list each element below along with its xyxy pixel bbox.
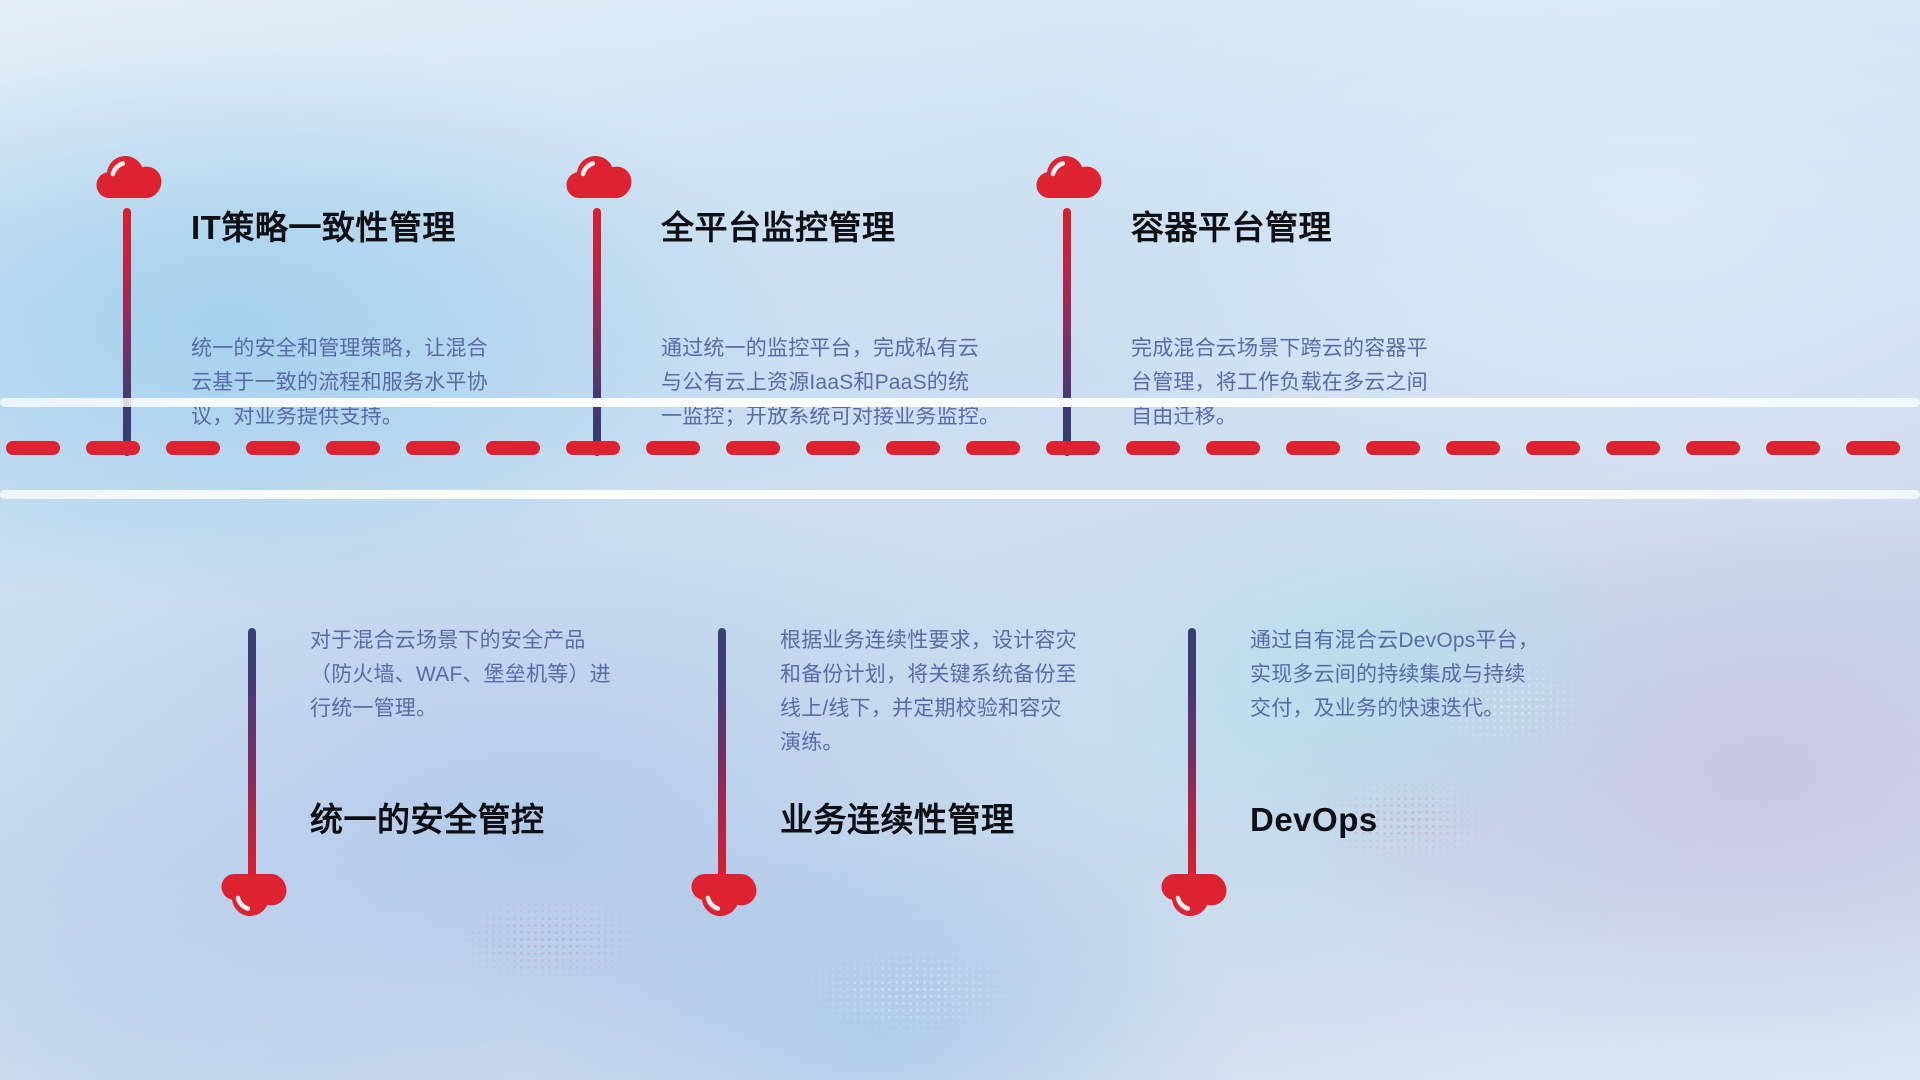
top-column-1-title: IT策略一致性管理 bbox=[191, 208, 456, 248]
divider-dash bbox=[1206, 441, 1260, 455]
bottom-column-3-title: DevOps bbox=[1250, 800, 1378, 840]
speckle-texture bbox=[420, 880, 680, 1000]
divider-dash bbox=[1446, 441, 1500, 455]
divider-dash bbox=[1606, 441, 1660, 455]
divider-dash bbox=[886, 441, 940, 455]
speckle-texture bbox=[760, 930, 1060, 1050]
divider-dash bbox=[1686, 441, 1740, 455]
divider-dash bbox=[246, 441, 300, 455]
divider-dash bbox=[1766, 441, 1820, 455]
bottom-column-1-body: 对于混合云场景下的安全产品 （防火墙、WAF、堡垒机等）进 行统一管理。 bbox=[310, 624, 670, 726]
divider-dash bbox=[646, 441, 700, 455]
top-column-3-title: 容器平台管理 bbox=[1131, 208, 1332, 248]
connector-stem bbox=[1188, 628, 1196, 878]
divider-dash bbox=[86, 441, 140, 455]
divider-dash bbox=[406, 441, 460, 455]
divider-dash bbox=[486, 441, 540, 455]
cloud-icon bbox=[691, 872, 757, 922]
top-column-2-title: 全平台监控管理 bbox=[661, 208, 896, 248]
divider-rule-top bbox=[0, 398, 1920, 407]
divider-dash bbox=[1366, 441, 1420, 455]
divider-rule-bottom bbox=[0, 490, 1920, 499]
cloud-icon bbox=[1161, 872, 1227, 922]
infographic-canvas: IT策略一致性管理 统一的安全和管理策略，让混合 云基于一致的流程和服务水平协 … bbox=[0, 0, 1920, 1080]
divider-dash bbox=[1126, 441, 1180, 455]
bottom-column-2-body: 根据业务连续性要求，设计容灾 和备份计划，将关键系统备份至 线上/线下，并定期校… bbox=[780, 624, 1140, 760]
divider-dash bbox=[726, 441, 780, 455]
divider-dash bbox=[166, 441, 220, 455]
divider-dash bbox=[1846, 441, 1900, 455]
cloud-icon bbox=[221, 872, 287, 922]
cloud-icon bbox=[96, 150, 162, 200]
divider-dash bbox=[326, 441, 380, 455]
divider-dash bbox=[1046, 441, 1100, 455]
dashed-red-line bbox=[0, 440, 1920, 455]
cloud-icon bbox=[1036, 150, 1102, 200]
bottom-column-1-title: 统一的安全管控 bbox=[310, 800, 545, 840]
divider-dash bbox=[6, 441, 60, 455]
bottom-column-2-title: 业务连续性管理 bbox=[780, 800, 1015, 840]
divider-dash bbox=[566, 441, 620, 455]
divider-dash bbox=[806, 441, 860, 455]
connector-stem bbox=[248, 628, 256, 878]
section-divider bbox=[0, 398, 1920, 508]
bottom-column-3-body: 通过自有混合云DevOps平台， 实现多云间的持续集成与持续 交付，及业务的快速… bbox=[1250, 624, 1610, 726]
divider-dash bbox=[1286, 441, 1340, 455]
divider-dash bbox=[1526, 441, 1580, 455]
connector-stem bbox=[718, 628, 726, 878]
background-vignette bbox=[0, 0, 1920, 1080]
divider-dash bbox=[966, 441, 1020, 455]
cloud-icon bbox=[566, 150, 632, 200]
